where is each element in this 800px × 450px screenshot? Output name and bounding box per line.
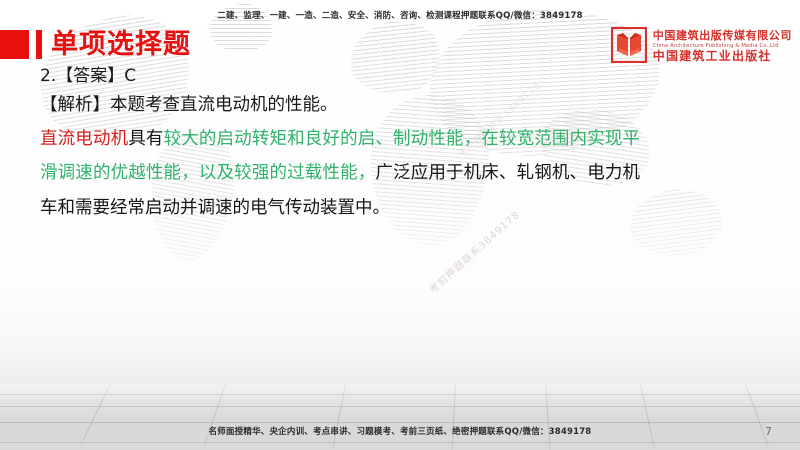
paragraph-segment-black-1: 具有	[128, 129, 163, 149]
perspective-floor	[0, 384, 800, 450]
header-promo-text: 二建、监理、一建、一造、二造、安全、消防、咨询、检测课程押题联系QQ/微信：38…	[0, 9, 800, 21]
answer-line: 2.【答案】C	[40, 63, 640, 89]
analysis-heading-line: 【解析】本题考查直流电动机的性能。	[40, 91, 640, 119]
title-red-bar-icon	[36, 30, 42, 59]
publisher-logo-text: 中国建筑出版传媒有限公司 China Architecture Publishi…	[653, 30, 792, 64]
publisher-press-cn: 中国建筑工业出版社	[653, 50, 792, 63]
title-red-square-icon	[0, 30, 29, 59]
section-title-label: 单项选择题	[51, 31, 191, 58]
footer-promo-text: 名师面授精华、央企内训、考点串讲、习题模考、考前三页纸、绝密押题联系QQ/微信：…	[0, 425, 800, 437]
slide-canvas: 二建、监理、一建、一造、二造、安全、消防、咨询、检测课程押题联系QQ/微信：38…	[0, 0, 800, 450]
slide-body: 2.【答案】C 【解析】本题考查直流电动机的性能。 直流电动机具有较大的启动转矩…	[40, 63, 640, 225]
publisher-logo-icon	[611, 27, 647, 67]
paragraph-segment-red-1: 直流电动机	[40, 129, 128, 149]
section-title: 单项选择题	[0, 28, 191, 60]
page-number: 7	[765, 425, 772, 438]
analysis-paragraph: 直流电动机具有较大的启动转矩和良好的启、制动性能，在较宽范围内实现平滑调速的优越…	[40, 122, 640, 224]
floor-reflection-sheen	[0, 384, 800, 450]
publisher-company-cn: 中国建筑出版传媒有限公司	[653, 30, 792, 42]
publisher-logo: 中国建筑出版传媒有限公司 China Architecture Publishi…	[611, 27, 792, 67]
